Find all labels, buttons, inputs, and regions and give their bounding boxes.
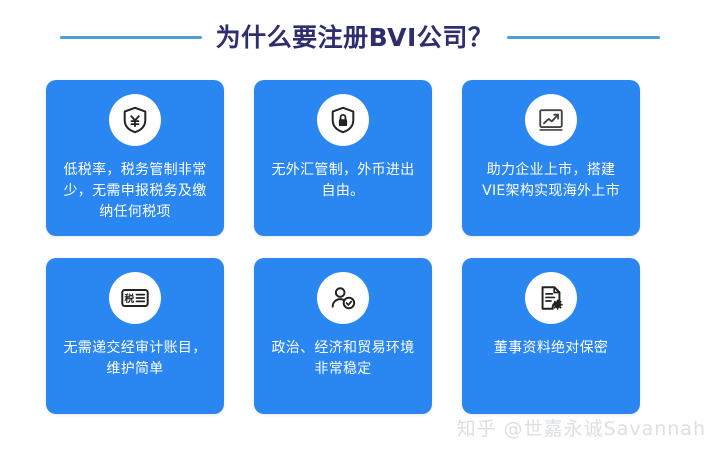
page-title: 为什么要注册BVI公司？ [216, 25, 494, 50]
document-gear-icon [525, 272, 577, 324]
title-rule-left [60, 36, 202, 39]
benefit-card-text: 低税率，税务管制非常 少，无需申报税务及缴 纳任何税项 [64, 160, 207, 223]
benefit-card-text: 无需递交经审计账目， 维护简单 [64, 338, 207, 380]
benefit-card-text: 政治、经济和贸易环境 非常稳定 [272, 338, 415, 380]
watermark: 知乎 @世嘉永诚Savannah [457, 420, 706, 439]
benefits-card-grid: 低税率，税务管制非常 少，无需申报税务及缴 纳任何税项 无外汇管制，外币进出 自… [46, 80, 640, 414]
chart-growth-icon [525, 94, 577, 146]
benefit-card-text: 助力企业上市，搭建 VIE架构实现海外上市 [482, 160, 620, 202]
benefit-card-text: 无外汇管制，外币进出 自由。 [272, 160, 415, 202]
benefit-card-no-audit[interactable]: 税 无需递交经审计账目， 维护简单 [46, 258, 224, 414]
tax-card-icon: 税 [109, 272, 161, 324]
shield-yuan-icon [109, 94, 161, 146]
benefit-card-no-forex-control[interactable]: 无外汇管制，外币进出 自由。 [254, 80, 432, 236]
title-rule-right [507, 36, 660, 39]
svg-text:税: 税 [124, 292, 134, 305]
benefit-card-ipo-vie[interactable]: 助力企业上市，搭建 VIE架构实现海外上市 [462, 80, 640, 236]
benefit-card-stable-environment[interactable]: 政治、经济和贸易环境 非常稳定 [254, 258, 432, 414]
shield-lock-icon [317, 94, 369, 146]
benefit-card-text: 董事资料绝对保密 [494, 338, 608, 359]
benefit-card-director-privacy[interactable]: 董事资料绝对保密 [462, 258, 640, 414]
person-check-icon [317, 272, 369, 324]
benefit-card-low-tax[interactable]: 低税率，税务管制非常 少，无需申报税务及缴 纳任何税项 [46, 80, 224, 236]
page-header: 为什么要注册BVI公司？ [0, 14, 720, 60]
